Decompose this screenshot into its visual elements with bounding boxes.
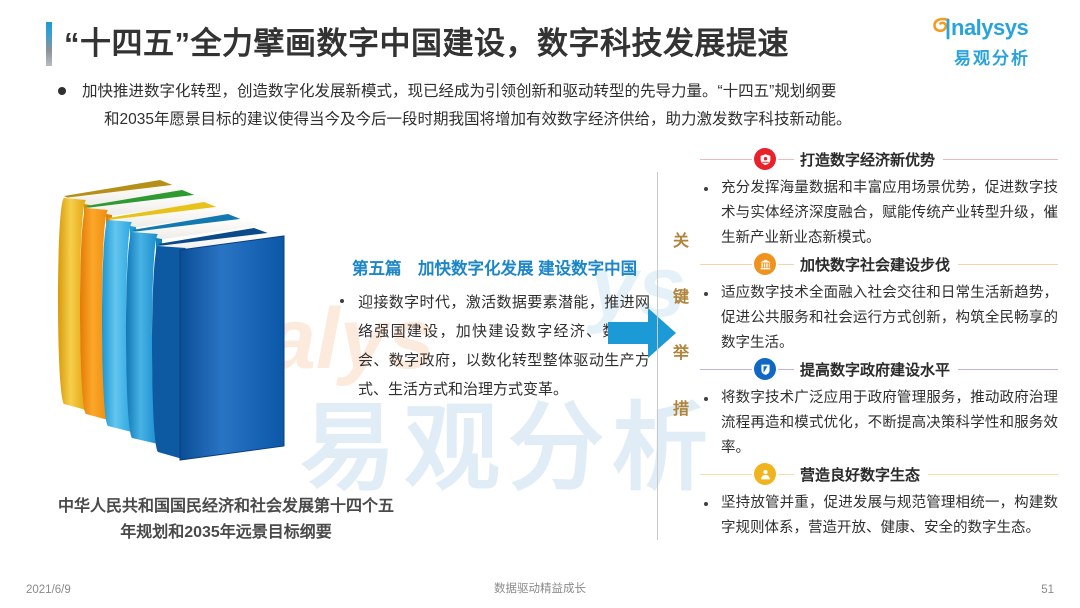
measure-section-3: 营造良好数字生态 坚持放管并重，促进发展与规范管理相统一，构建数字规则体系，营造… — [700, 461, 1058, 541]
rule-right-3 — [928, 474, 1058, 475]
person-badge-icon — [754, 463, 776, 485]
page-title: “十四五”全力擘画数字中国建设，数字科技发展提速 — [64, 18, 789, 63]
measure-text-2: 将数字技术广泛应用于政府管理服务，推动政府治理流程再造和模式优化，不断提高决策科… — [721, 386, 1058, 461]
rule-right-2 — [958, 369, 1058, 370]
measure-body-3: 坚持放管并重，促进发展与规范管理相统一，构建数字规则体系，营造开放、健康、安全的… — [700, 491, 1058, 541]
measure-header-3: 营造良好数字生态 — [700, 461, 1058, 487]
rule-left-0 — [700, 159, 752, 160]
measure-section-2: 提高数字政府建设水平 将数字技术广泛应用于政府管理服务，推动政府治理流程再造和模… — [700, 356, 1058, 461]
bullet-dot-icon — [58, 87, 66, 95]
key-measures-vertical-label: 关 键 举 措 — [668, 214, 694, 438]
lead-text: 加快推进数字化转型，创造数字化发展新模式，现已经成为引领创新和驱动转型的先导力量… — [82, 78, 852, 134]
measure-header-1: 加快数字社会建设步伐 — [700, 251, 1058, 277]
rule-left-1 — [700, 264, 752, 265]
rule-left-2 — [700, 369, 752, 370]
measure-section-1: 加快数字社会建设步伐 适应数字技术全面融入社会交往和日常生活新趋势，促进公共服务… — [700, 251, 1058, 356]
bullet-dot-icon — [704, 397, 708, 401]
books-caption-line-2: 年规划和2035年远景目标纲要 — [26, 520, 426, 546]
measure-body-0: 充分发挥海量数据和丰富应用场景优势，促进数字技术与实体经济深度融合，赋能传统产业… — [700, 176, 1058, 251]
measure-title-1: 加快数字社会建设步伐 — [800, 254, 950, 275]
lead-line-1: 加快推进数字化转型，创造数字化发展新模式，现已经成为引领创新和驱动转型的先导力量… — [82, 83, 836, 100]
shield-flag-icon — [754, 358, 776, 380]
books-caption-line-1: 中华人民共和国国民经济和社会发展第十四个五 — [26, 494, 426, 520]
key-measures-list: 打造数字经济新优势 充分发挥海量数据和丰富应用场景优势，促进数字技术与实体经济深… — [700, 146, 1058, 541]
logo-chinese-name: 易观分析 — [932, 44, 1052, 69]
title-accent-bar — [46, 22, 52, 66]
measure-header-2: 提高数字政府建设水平 — [700, 356, 1058, 382]
section-five-body: 迎接数字时代，激活数据要素潜能，推进网络强国建设，加快建设数字经济、数字社会、数… — [340, 288, 650, 404]
lead-line-2: 和2035年愿景目标的建议使得当今及今后一段时期我国将增加有效数字经济供给，助力… — [82, 106, 852, 134]
measure-header-0: 打造数字经济新优势 — [700, 146, 1058, 172]
measure-body-1: 适应数字技术全面融入社会交往和日常生活新趋势，促进公共服务和社会运行方式创新，构… — [700, 281, 1058, 356]
vlabel-char-3: 措 — [668, 382, 694, 438]
lead-bullet: 加快推进数字化转型，创造数字化发展新模式，现已经成为引领创新和驱动转型的先导力量… — [58, 78, 1028, 134]
rule-right-1 — [958, 264, 1058, 265]
measure-title-2: 提高数字政府建设水平 — [800, 359, 950, 380]
books-caption: 中华人民共和国国民经济和社会发展第十四个五 年规划和2035年远景目标纲要 — [26, 494, 426, 546]
bullet-dot-icon — [704, 292, 708, 296]
measure-text-1: 适应数字技术全面融入社会交往和日常生活新趋势，促进公共服务和社会运行方式创新，构… — [721, 281, 1058, 356]
rule-mid-0 — [778, 159, 794, 160]
books-illustration — [40, 170, 330, 500]
shield-star-badge-icon — [754, 148, 776, 170]
slide-root: alys ys 易观分析 “十四五”全力擘画数字中国建设，数字科技发展提速 na… — [0, 0, 1080, 608]
measure-text-3: 坚持放管并重，促进发展与规范管理相统一，构建数字规则体系，营造开放、健康、安全的… — [721, 491, 1058, 541]
footer-page-number: 51 — [1041, 584, 1054, 596]
measure-title-0: 打造数字经济新优势 — [800, 149, 935, 170]
analysys-a-swirl-icon — [932, 16, 954, 40]
books-svg — [40, 170, 330, 500]
logo-wordmark: nalysys — [951, 16, 1028, 40]
measure-section-0: 打造数字经济新优势 充分发挥海量数据和丰富应用场景优势，促进数字技术与实体经济深… — [700, 146, 1058, 251]
rule-mid-1 — [778, 264, 794, 265]
bullet-dot-icon — [340, 299, 344, 303]
measure-text-0: 充分发挥海量数据和丰富应用场景优势，促进数字技术与实体经济深度融合，赋能传统产业… — [721, 176, 1058, 251]
rule-mid-3 — [778, 474, 794, 475]
measure-body-2: 将数字技术广泛应用于政府管理服务，推动政府治理流程再造和模式优化，不断提高决策科… — [700, 386, 1058, 461]
bullet-dot-icon — [704, 502, 708, 506]
vlabel-char-1: 键 — [668, 270, 694, 326]
analysys-logo: nalysys 易观分析 — [932, 14, 1052, 69]
right-arrow-icon — [608, 306, 676, 360]
section-five-heading: 第五篇 加快数字化发展 建设数字中国 — [352, 255, 637, 279]
bank-building-icon — [754, 253, 776, 275]
rule-left-3 — [700, 474, 752, 475]
bullet-dot-icon — [704, 187, 708, 191]
vertical-divider — [657, 172, 658, 540]
measure-title-3: 营造良好数字生态 — [800, 464, 920, 485]
rule-right-0 — [943, 159, 1058, 160]
vlabel-char-2: 举 — [668, 326, 694, 382]
vlabel-char-0: 关 — [668, 214, 694, 270]
rule-mid-2 — [778, 369, 794, 370]
section-five-text: 迎接数字时代，激活数据要素潜能，推进网络强国建设，加快建设数字经济、数字社会、数… — [358, 288, 650, 404]
footer-slogan: 数据驱动精益成长 — [0, 580, 1080, 596]
